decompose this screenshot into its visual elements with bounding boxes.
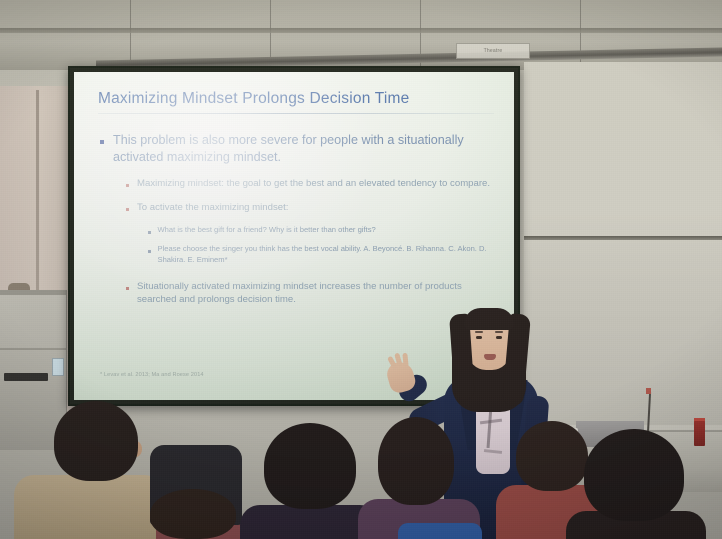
- bullet-level2: To activate the maximizing mindset:: [126, 201, 500, 214]
- bullet-marker-icon: [148, 250, 151, 253]
- bullet-text: Please choose the singer you think has t…: [158, 244, 501, 266]
- bullet-level2: Maximizing mindset: the goal to get the …: [126, 177, 500, 190]
- cabinet-label-sticker: [52, 358, 64, 376]
- bullet-text: Maximizing mindset: the goal to get the …: [137, 177, 490, 190]
- red-thermos: [694, 421, 705, 446]
- presenter-eyebrow: [495, 331, 503, 333]
- bullet-marker-icon: [126, 184, 129, 187]
- bullet-level3: Please choose the singer you think has t…: [148, 244, 500, 266]
- ceiling-beam: [0, 28, 722, 33]
- slide-title-underline: [98, 113, 494, 114]
- slide-footnote: * Levav et al. 2013; Ma and Roese 2014: [100, 372, 400, 378]
- audience-member-head: [264, 423, 356, 509]
- ceiling-tile: [580, 0, 722, 70]
- whiteboard-divider: [524, 236, 722, 240]
- audience-member-head: [54, 401, 138, 481]
- pointer-tip: [646, 388, 651, 394]
- audience-member-head: [516, 421, 588, 491]
- presenter-mouth: [484, 354, 496, 360]
- bullet-level3: What is the best gift for a friend? Why …: [148, 225, 500, 236]
- bullet-marker-icon: [126, 287, 129, 290]
- presenter-eyebrow: [475, 331, 483, 333]
- bullet-marker-icon: [100, 140, 104, 144]
- slide-title: Maximizing Mindset Prolongs Decision Tim…: [98, 90, 488, 108]
- audience-member-body: [14, 475, 164, 539]
- audience-member-head: [584, 429, 684, 521]
- presenter-eye: [496, 336, 502, 339]
- presenter-eye: [476, 336, 482, 339]
- bullet-text: This problem is also more severe for peo…: [113, 132, 500, 165]
- slide-bullet-list: This problem is also more severe for peo…: [100, 132, 500, 317]
- cabinet-seam: [0, 348, 66, 350]
- audience-member-collar: [398, 523, 482, 539]
- bullet-text: What is the best gift for a friend? Why …: [158, 225, 376, 236]
- presenter-hair-front: [464, 308, 514, 330]
- lecture-hall-photo: Theatre Maximizing Mindset Prolongs Deci…: [0, 0, 722, 539]
- cabinet-top-edge: [0, 290, 66, 295]
- ceiling-sign: Theatre: [456, 43, 530, 59]
- bullet-marker-icon: [126, 208, 129, 211]
- presenter-finger: [402, 353, 408, 367]
- audience-member-head: [150, 489, 236, 539]
- projector-glare: [74, 72, 382, 302]
- audience-member-head: [378, 417, 454, 505]
- bullet-marker-icon: [148, 231, 151, 234]
- bullet-text: To activate the maximizing mindset:: [137, 201, 288, 214]
- bullet-level1: This problem is also more severe for peo…: [100, 132, 500, 165]
- cabinet-vent-slot: [4, 373, 48, 381]
